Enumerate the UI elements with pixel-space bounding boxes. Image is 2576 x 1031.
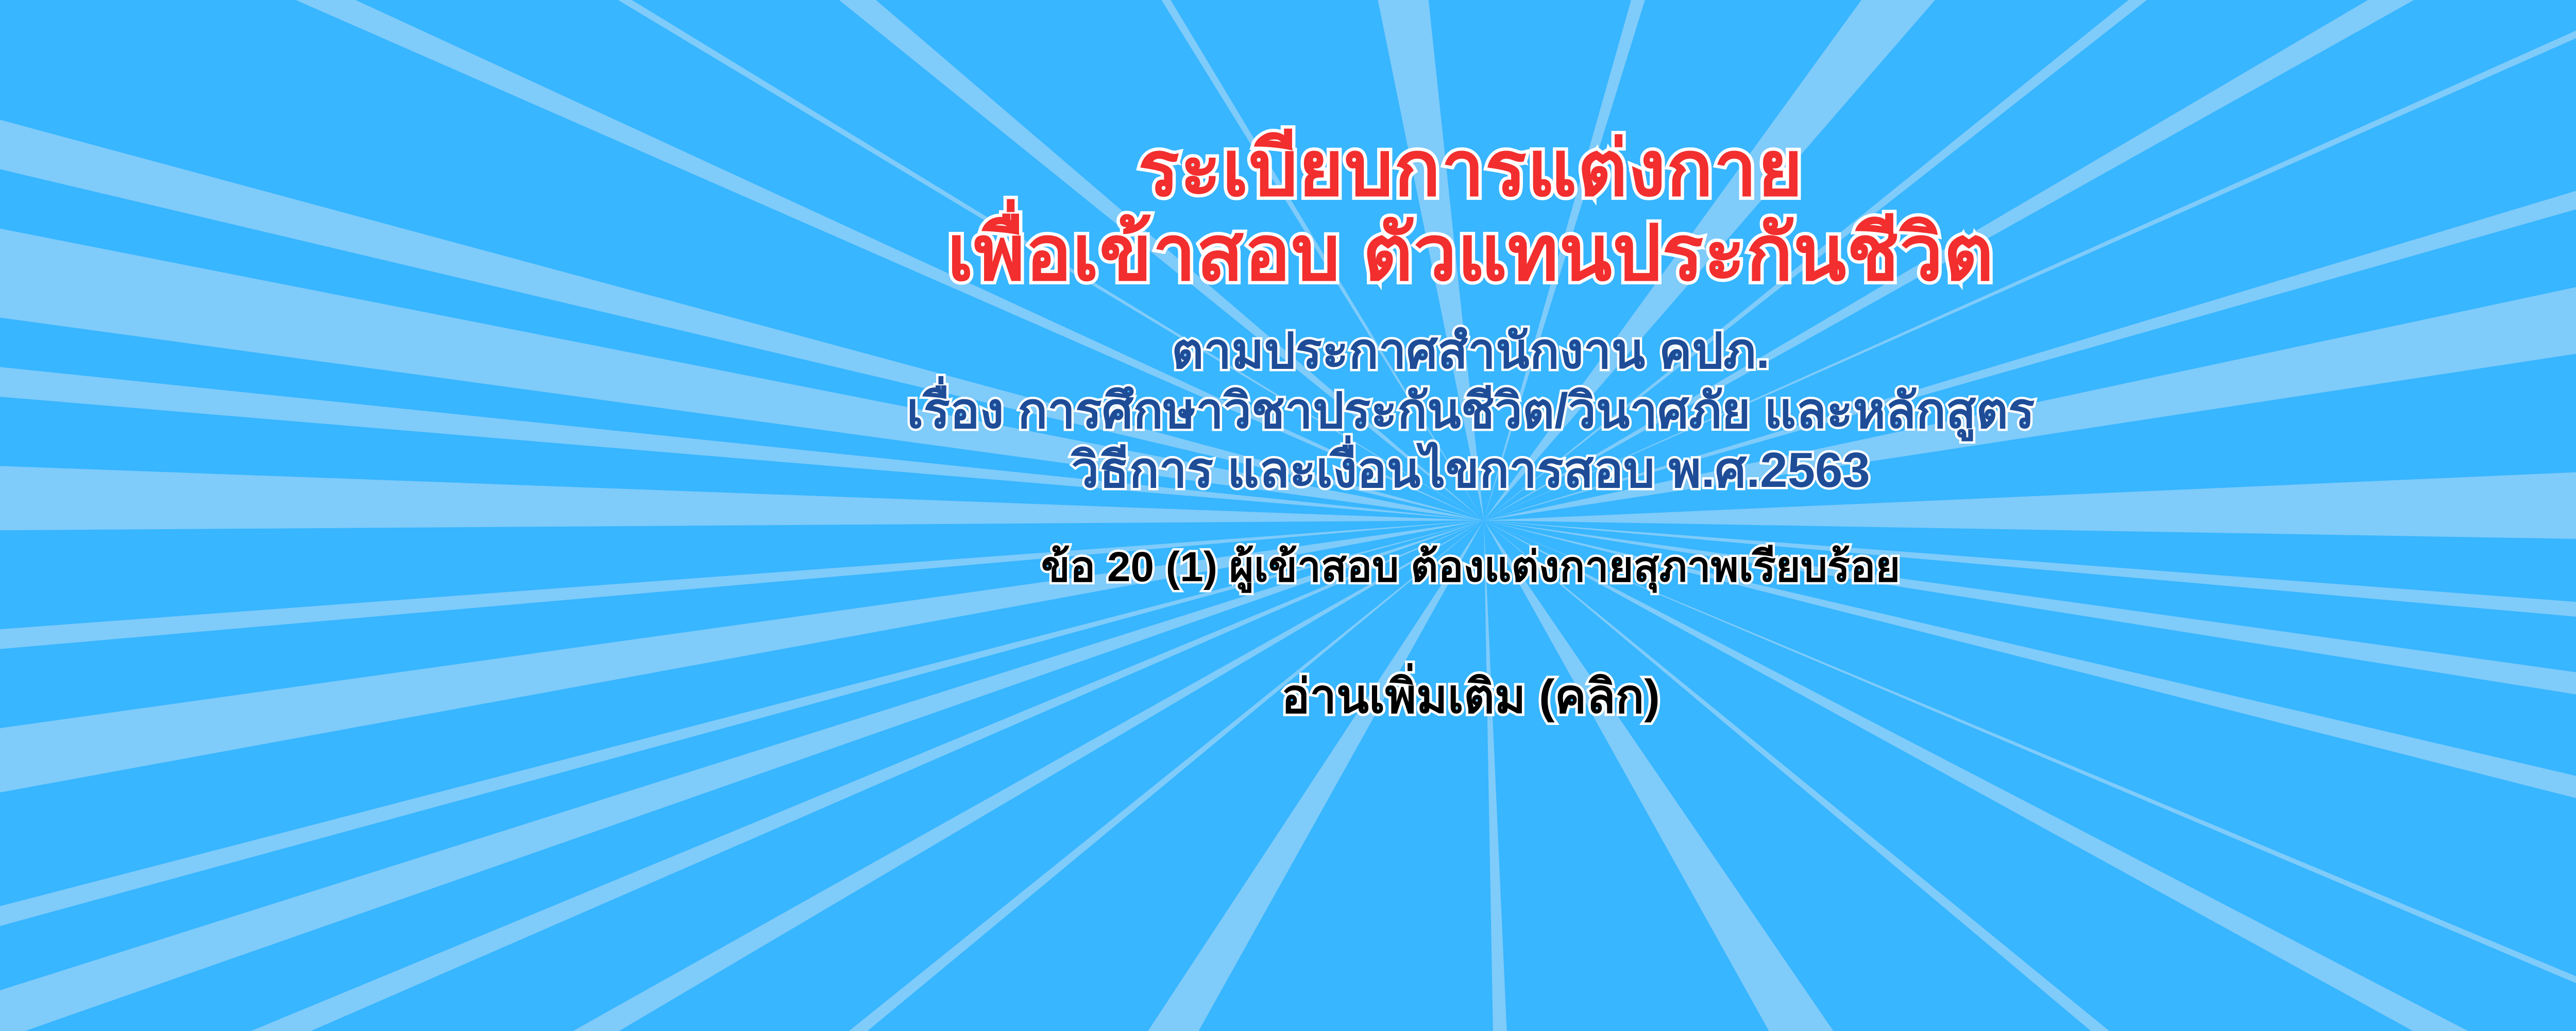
subtitle-line-2: เรื่อง การศึกษาวิชาประกันชีวิต/วินาศภัย … bbox=[907, 383, 2035, 443]
promo-banner: ระเบียบการแต่งกาย เพื่อเข้าสอบ ตัวแทนประ… bbox=[0, 0, 2576, 1031]
subtitle-line-3: วิธีการ และเงื่อนไขการสอบ พ.ศ.2563 bbox=[907, 443, 2035, 502]
dress-code-clause: ข้อ 20 (1) ผู้เข้าสอบ ต้องแต่งกายสุภาพเร… bbox=[1041, 533, 1901, 600]
title-block: ระเบียบการแต่งกาย เพื่อเข้าสอบ ตัวแทนประ… bbox=[947, 130, 1994, 299]
subtitle-block: ตามประกาศสำนักงาน คปภ. เรื่อง การศึกษาวิ… bbox=[907, 324, 2035, 502]
title-line-2: เพื่อเข้าสอบ ตัวแทนประกันชีวิต bbox=[947, 214, 1994, 299]
banner-content: ระเบียบการแต่งกาย เพื่อเข้าสอบ ตัวแทนประ… bbox=[0, 0, 2576, 1031]
read-more-link[interactable]: อ่านเพิ่มเติม (คลิก) bbox=[1281, 658, 1660, 734]
subtitle-line-1: ตามประกาศสำนักงาน คปภ. bbox=[907, 324, 2035, 383]
title-line-1: ระเบียบการแต่งกาย bbox=[947, 130, 1994, 214]
